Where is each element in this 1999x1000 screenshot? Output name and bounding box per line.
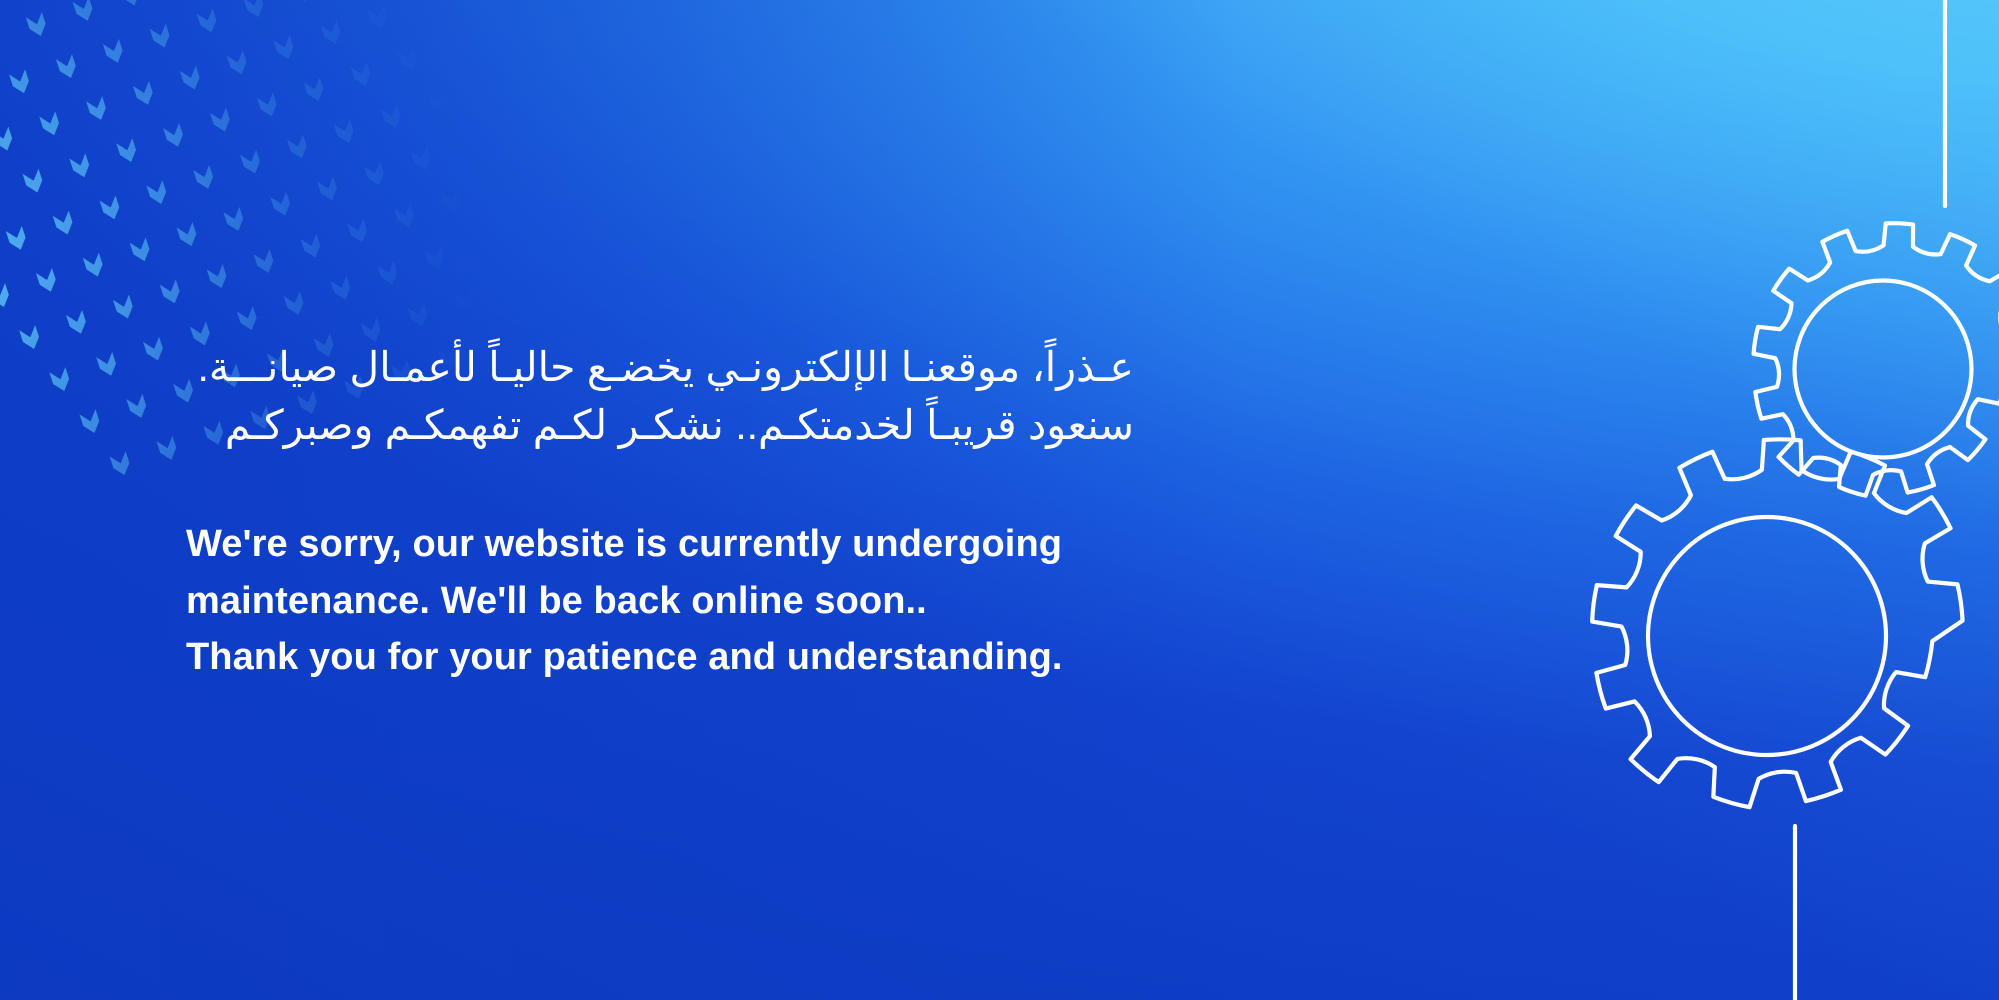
english-message-line-1: We're sorry, our website is currently un… [186, 516, 1196, 572]
message-content: عـذراً، موقعنـا الإلكترونـي يخضـع حاليـا… [186, 338, 1196, 685]
maintenance-page: عـذراً، موقعنـا الإلكترونـي يخضـع حاليـا… [0, 0, 1999, 1000]
english-message: We're sorry, our website is currently un… [186, 516, 1196, 685]
arabic-message: عـذراً، موقعنـا الإلكترونـي يخضـع حاليـا… [186, 338, 1134, 454]
english-message-line-2: maintenance. We'll be back online soon.. [186, 573, 1196, 629]
english-message-line-3: Thank you for your patience and understa… [186, 629, 1196, 685]
arabic-message-line-1: عـذراً، موقعنـا الإلكترونـي يخضـع حاليـا… [186, 338, 1134, 396]
arabic-message-line-2: سنعود قريبـاً لخدمتكـم.. نشكـر لكـم تفهم… [186, 396, 1134, 454]
